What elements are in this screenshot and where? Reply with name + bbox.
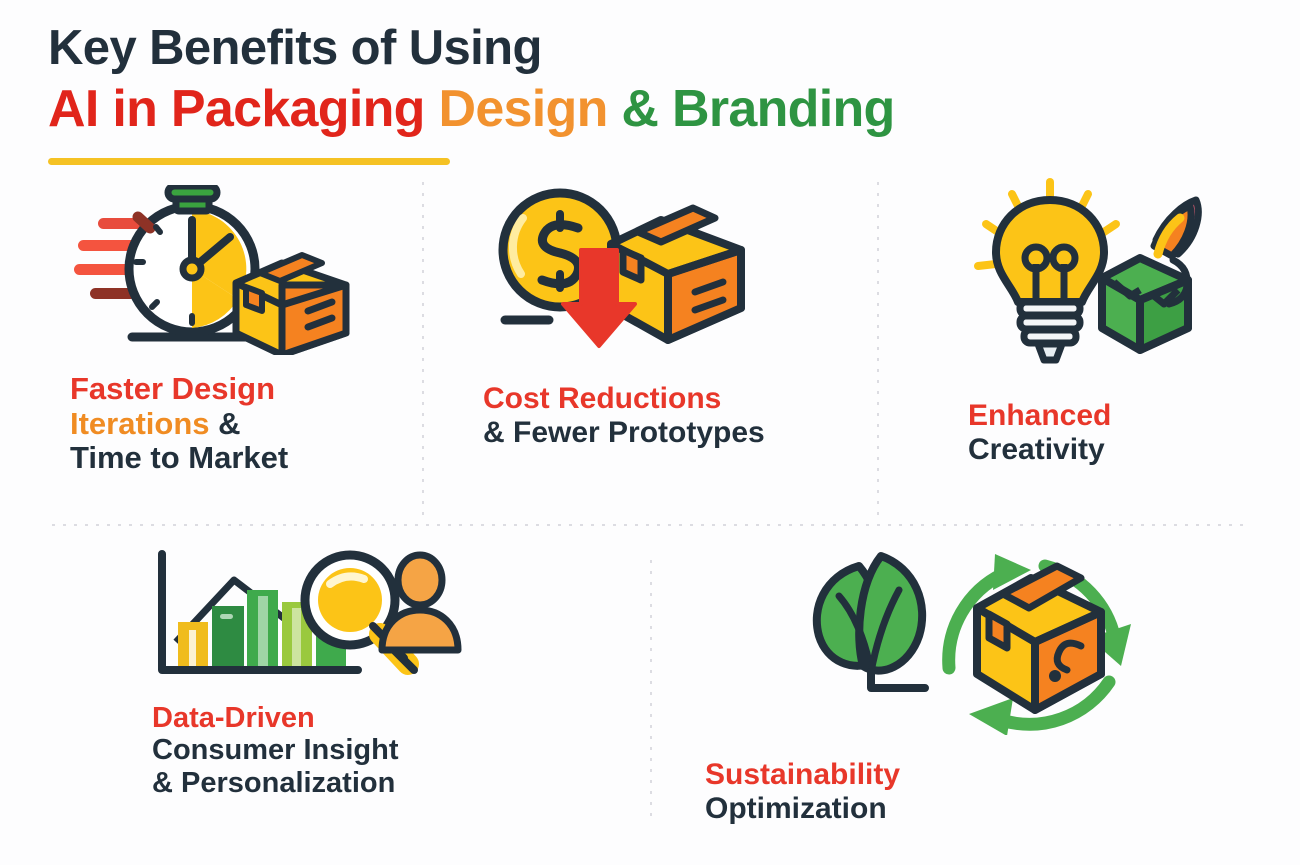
divider-vertical-3 <box>650 560 652 816</box>
caption-line-2: Consumer Insight <box>152 734 462 766</box>
caption-line-1: Data-Driven <box>152 702 462 734</box>
bar-chart-magnifier-person-icon <box>152 548 462 688</box>
benefit-caption: Enhanced Creativity <box>968 399 1208 466</box>
caption-line-3: Time to Market <box>70 441 360 476</box>
benefit-caption: Cost Reductions & Fewer Prototypes <box>483 382 773 449</box>
page-title: Key Benefits of Using AI in Packaging De… <box>48 24 895 137</box>
divider-vertical-2 <box>877 182 879 516</box>
caption-line-2: Iterations & <box>70 407 360 442</box>
caption-line-1: Faster Design <box>70 372 360 407</box>
coin-down-arrow-box-icon <box>483 188 773 358</box>
benefit-card-data-driven-consumer-insight: Data-Driven Consumer Insight & Personali… <box>152 548 462 799</box>
benefit-card-sustainability-optimization: Sustainability Optimization <box>705 550 1135 825</box>
benefit-card-faster-design-iterations: Faster Design Iterations & Time to Marke… <box>70 185 360 476</box>
stopwatch-and-box-icon <box>70 185 360 360</box>
title-underline <box>48 158 450 165</box>
title-line-1: Key Benefits of Using <box>48 24 895 73</box>
title-part-ai-packaging: AI in Packaging <box>48 80 425 138</box>
infographic-root: Key Benefits of Using AI in Packaging De… <box>0 0 1300 865</box>
benefit-card-enhanced-creativity: Enhanced Creativity <box>968 170 1208 466</box>
caption-line-1: Sustainability <box>705 758 1135 792</box>
benefit-caption: Sustainability Optimization <box>705 758 1135 825</box>
title-line-2: AI in Packaging Design & Branding <box>48 82 895 137</box>
benefit-caption: Data-Driven Consumer Insight & Personali… <box>152 702 462 799</box>
title-part-branding: & Branding <box>621 80 894 138</box>
divider-vertical-1 <box>422 182 424 516</box>
benefit-caption: Faster Design Iterations & Time to Marke… <box>70 372 360 476</box>
lightbulb-paintbrush-box-icon <box>968 170 1208 375</box>
title-part-design: Design <box>438 80 607 138</box>
divider-horizontal <box>52 524 1250 526</box>
caption-line-2: & Fewer Prototypes <box>483 416 773 450</box>
caption-line-1: Enhanced <box>968 399 1208 433</box>
caption-line-2: Optimization <box>705 792 1135 826</box>
caption-line-3: & Personalization <box>152 767 462 799</box>
benefit-card-cost-reductions: Cost Reductions & Fewer Prototypes <box>483 188 773 449</box>
caption-line-1: Cost Reductions <box>483 382 773 416</box>
leaves-recycle-box-icon <box>705 550 1135 740</box>
caption-line-2: Creativity <box>968 433 1208 467</box>
